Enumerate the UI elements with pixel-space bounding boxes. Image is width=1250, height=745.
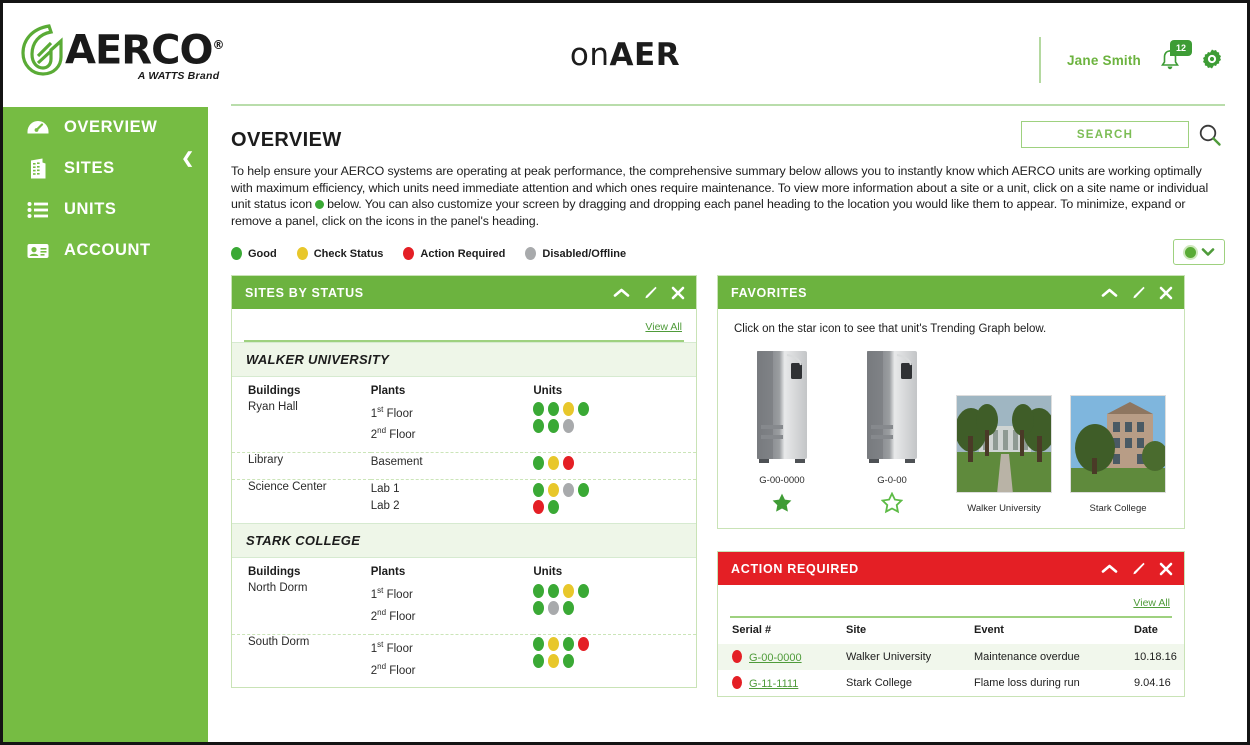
edit-button[interactable] (1131, 561, 1146, 576)
app-header: AERCO® A WATTS Brand onAER Jane Smith 12 (3, 3, 1247, 107)
legend-label: Disabled/Offline (542, 248, 626, 260)
panel-header[interactable]: SITES BY STATUS (232, 276, 696, 309)
chevron-up-icon (1101, 563, 1118, 575)
unit-status-dot-icon[interactable] (563, 402, 574, 416)
table-row: South Dorm1st Floor2nd Floor (232, 634, 696, 687)
sidebar: ❮ OVERVIEW SITES (3, 107, 208, 745)
unit-status-dot-icon[interactable] (563, 419, 574, 433)
event-cell: Flame loss during run (974, 670, 1134, 696)
sites-list: WALKER UNIVERSITYBuildingsPlantsUnitsRya… (232, 342, 696, 688)
favorite-item[interactable]: Walker University (956, 371, 1052, 514)
building-name[interactable]: Ryan Hall (232, 400, 371, 453)
view-all-row: View All (718, 585, 1184, 616)
favorite-thumbnail (846, 343, 938, 465)
units-cell (533, 581, 696, 634)
sidebar-item-label: SITES (64, 159, 115, 178)
header-actions: Jane Smith 12 (1039, 37, 1225, 83)
status-dot-action-icon (732, 676, 742, 689)
column-header: Event (974, 618, 1134, 644)
table-body: G-00-0000Walker UniversityMaintenance ov… (718, 644, 1184, 696)
table-row: Science CenterLab 1Lab 2 (232, 480, 696, 524)
pencil-icon (1131, 285, 1146, 300)
user-name[interactable]: Jane Smith (1067, 53, 1141, 68)
favorite-caption: Stark College (1070, 503, 1166, 514)
building-icon (25, 156, 51, 182)
unit-status-dot-icon[interactable] (548, 500, 559, 514)
favorites-grid: G-00-0000 G-0-00 Walker University Stark… (718, 341, 1184, 528)
close-icon (671, 286, 685, 300)
settings-button[interactable] (1199, 47, 1225, 73)
status-filter-selected-dot-icon (1183, 245, 1198, 260)
close-icon (1159, 286, 1173, 300)
search-input[interactable] (1021, 121, 1189, 148)
unit-status-dot-icon[interactable] (548, 637, 559, 651)
pencil-icon (1131, 561, 1146, 576)
unit-status-dot-icon[interactable] (548, 456, 559, 470)
panel-body: Click on the star icon to see that unit'… (718, 309, 1184, 528)
unit-status-dot-icon[interactable] (533, 654, 544, 668)
plant-name: 1st Floor (371, 401, 534, 423)
chevron-down-icon (1201, 246, 1215, 258)
inline-status-dot-icon (315, 200, 324, 209)
favorites-instruction: Click on the star icon to see that unit'… (718, 309, 1184, 341)
id-card-icon (25, 238, 51, 264)
plant-name: Lab 1 (371, 481, 534, 498)
unit-status-group (533, 582, 696, 599)
favorite-item[interactable]: G-0-00 (846, 343, 938, 514)
plants-cell: 1st Floor2nd Floor (371, 581, 534, 634)
unit-status-dot-icon[interactable] (533, 637, 544, 651)
boiler-unit-image (861, 347, 923, 465)
legend-label: Action Required (420, 248, 505, 260)
column-header: Plants (371, 377, 534, 400)
status-dot-action-icon (732, 650, 742, 663)
panel-body: View All WALKER UNIVERSITYBuildingsPlant… (232, 309, 696, 687)
plant-name: 2nd Floor (371, 422, 534, 444)
overview-description-part2: below. You can also customize your scree… (231, 197, 1185, 228)
favorite-thumbnail (1070, 371, 1166, 493)
plants-cell: 1st Floor2nd Floor (371, 634, 534, 687)
plant-name: 1st Floor (371, 582, 534, 604)
panel-column-left: SITES BY STATUS (231, 275, 697, 697)
panel-tools (1101, 285, 1173, 300)
unit-status-dot-icon[interactable] (548, 402, 559, 416)
panel-favorites: FAVORITES (717, 275, 1185, 529)
site-name-header[interactable]: WALKER UNIVERSITY (232, 342, 696, 377)
plant-name: 2nd Floor (371, 604, 534, 626)
site-photo (1070, 395, 1166, 493)
date-cell: 10.18.16 (1134, 644, 1184, 670)
notifications-button[interactable]: 12 (1157, 47, 1183, 73)
close-button[interactable] (1159, 562, 1173, 576)
plants-cell: 1st Floor2nd Floor (371, 400, 534, 453)
favorite-star-toggle[interactable] (736, 492, 828, 514)
legend-item-check-status: Check Status (297, 247, 384, 260)
site-table: BuildingsPlantsUnitsRyan Hall1st Floor2n… (232, 377, 696, 524)
sidebar-item-sites[interactable]: SITES (3, 148, 208, 189)
building-name[interactable]: North Dorm (232, 581, 371, 634)
favorite-item[interactable]: Stark College (1070, 371, 1166, 514)
legend-label: Good (248, 248, 277, 260)
unit-status-dot-icon[interactable] (578, 402, 589, 416)
column-header: Date (1134, 618, 1184, 644)
panel-header[interactable]: ACTION REQUIRED (718, 552, 1184, 585)
view-all-link[interactable]: View All (645, 321, 682, 333)
column-header: Units (533, 377, 696, 400)
minimize-button[interactable] (613, 287, 630, 299)
panel-grid: SITES BY STATUS (231, 275, 1225, 697)
favorite-caption: Walker University (956, 503, 1052, 514)
unit-status-group (533, 599, 696, 616)
minimize-button[interactable] (1101, 287, 1118, 299)
gear-icon (1199, 47, 1225, 73)
serial-link[interactable]: G-11-1111 (749, 678, 798, 690)
sidebar-item-overview[interactable]: OVERVIEW (3, 107, 208, 148)
panel-tools (1101, 561, 1173, 576)
plant-name: 2nd Floor (371, 658, 534, 680)
plant-name: Basement (371, 454, 534, 471)
pencil-icon (643, 285, 658, 300)
unit-status-group (533, 418, 696, 435)
column-header: Plants (371, 558, 534, 581)
favorite-item[interactable]: G-00-0000 (736, 343, 828, 514)
table-row[interactable]: G-00-0000Walker UniversityMaintenance ov… (718, 644, 1184, 670)
sidebar-item-units[interactable]: UNITS (3, 189, 208, 230)
sidebar-item-label: ACCOUNT (64, 241, 151, 260)
unit-status-dot-icon[interactable] (548, 483, 559, 497)
table-row[interactable]: G-11-1111Stark CollegeFlame loss during … (718, 670, 1184, 696)
view-all-row: View All (232, 309, 696, 340)
unit-status-dot-icon[interactable] (578, 637, 589, 651)
panel-body: View All Serial #SiteEventDate G-00-0000… (718, 585, 1184, 696)
unit-status-dot-icon[interactable] (533, 584, 544, 598)
units-cell (533, 400, 696, 453)
legend-item-disabled-offline: Disabled/Offline (525, 247, 626, 260)
header-rule (231, 104, 1225, 106)
unit-status-group (533, 636, 696, 653)
legend-label: Check Status (314, 248, 384, 260)
action-required-table: Serial #SiteEventDate G-00-0000Walker Un… (718, 618, 1184, 696)
table-header-row: Serial #SiteEventDate (718, 618, 1184, 644)
unit-status-dot-icon[interactable] (563, 601, 574, 615)
sidebar-item-label: OVERVIEW (64, 118, 157, 137)
status-legend: Good Check Status Action Required Disabl… (231, 247, 1225, 260)
unit-status-dot-icon[interactable] (533, 601, 544, 615)
unit-status-dot-icon[interactable] (563, 456, 574, 470)
status-filter-dropdown[interactable] (1173, 239, 1225, 265)
sidebar-item-label: UNITS (64, 200, 117, 219)
plants-cell: Basement (371, 453, 534, 480)
main-content: OVERVIEW To help ensure your AERCO syste… (208, 107, 1247, 745)
search-icon[interactable] (1197, 122, 1223, 148)
sidebar-item-account[interactable]: ACCOUNT (3, 230, 208, 271)
site-name-header[interactable]: STARK COLLEGE (232, 523, 696, 558)
site-cell: Stark College (846, 670, 974, 696)
unit-status-dot-icon[interactable] (578, 584, 589, 598)
chevron-up-icon (613, 287, 630, 299)
building-name[interactable]: Library (232, 453, 371, 480)
serial-cell: G-00-0000 (718, 644, 846, 670)
units-cell (533, 453, 696, 480)
view-all-link[interactable]: View All (1133, 597, 1170, 609)
boiler-unit-image (751, 347, 813, 465)
unit-status-dot-icon[interactable] (563, 483, 574, 497)
notification-badge: 12 (1170, 40, 1192, 56)
header-divider (1039, 37, 1041, 83)
panel-title: FAVORITES (731, 286, 1101, 300)
panel-action-required: ACTION REQUIRED (717, 551, 1185, 697)
edit-button[interactable] (643, 285, 658, 300)
status-dot-good-icon (231, 247, 242, 260)
site-table: BuildingsPlantsUnitsNorth Dorm1st Floor2… (232, 558, 696, 687)
unit-status-dot-icon[interactable] (533, 402, 544, 416)
favorite-thumbnail (736, 343, 828, 465)
column-header: Site (846, 618, 974, 644)
panel-title: SITES BY STATUS (245, 286, 613, 300)
column-header: Buildings (232, 377, 371, 400)
serial-cell: G-11-1111 (718, 670, 846, 696)
unit-status-dot-icon[interactable] (563, 584, 574, 598)
campus-photo (957, 396, 1052, 493)
unit-status-dot-icon[interactable] (533, 419, 544, 433)
unit-status-dot-icon[interactable] (533, 456, 544, 470)
favorite-star-toggle[interactable] (846, 492, 938, 514)
favorite-thumbnail (956, 371, 1052, 493)
site-photo (956, 395, 1052, 493)
site-cell: Walker University (846, 644, 974, 670)
units-cell (533, 634, 696, 687)
units-cell (533, 480, 696, 524)
favorite-caption: G-00-0000 (736, 475, 828, 486)
unit-status-dot-icon[interactable] (548, 601, 559, 615)
column-header: Units (533, 558, 696, 581)
onaer-dashboard: AERCO® A WATTS Brand onAER Jane Smith 12 (0, 0, 1250, 745)
close-icon (1159, 562, 1173, 576)
status-dot-disabled-icon (525, 247, 536, 260)
unit-status-group (533, 498, 696, 515)
unit-status-dot-icon[interactable] (578, 483, 589, 497)
column-header: Buildings (232, 558, 371, 581)
table-header-row: BuildingsPlantsUnits (232, 377, 696, 400)
search-area (1021, 121, 1223, 148)
status-dot-check-icon (297, 247, 308, 260)
dashboard-gauge-icon (25, 115, 51, 141)
unit-status-group (533, 401, 696, 418)
legend-item-good: Good (231, 247, 277, 260)
panel-header[interactable]: FAVORITES (718, 276, 1184, 309)
table-header-row: BuildingsPlantsUnits (232, 558, 696, 581)
close-button[interactable] (671, 286, 685, 300)
campus-photo (1071, 396, 1166, 493)
plant-name: Lab 2 (371, 498, 534, 515)
serial-link[interactable]: G-00-0000 (749, 652, 802, 664)
edit-button[interactable] (1131, 285, 1146, 300)
plants-cell: Lab 1Lab 2 (371, 480, 534, 524)
panel-column-right: FAVORITES (717, 275, 1185, 697)
unit-status-dot-icon[interactable] (563, 654, 574, 668)
legend-item-action-required: Action Required (403, 247, 505, 260)
unit-status-dot-icon[interactable] (548, 419, 559, 433)
table-row: Ryan Hall1st Floor2nd Floor (232, 400, 696, 453)
unit-status-dot-icon[interactable] (548, 654, 559, 668)
minimize-button[interactable] (1101, 563, 1118, 575)
star-outline-icon[interactable] (881, 492, 903, 514)
unit-status-dot-icon[interactable] (533, 483, 544, 497)
favorite-caption: G-0-00 (846, 475, 938, 486)
unit-status-dot-icon[interactable] (563, 637, 574, 651)
unit-status-group (533, 454, 696, 471)
panel-sites-by-status: SITES BY STATUS (231, 275, 697, 688)
unit-status-group (533, 481, 696, 498)
panel-title: ACTION REQUIRED (731, 562, 1101, 576)
unit-status-group (533, 653, 696, 670)
event-cell: Maintenance overdue (974, 644, 1134, 670)
column-header: Serial # (718, 618, 846, 644)
chevron-up-icon (1101, 287, 1118, 299)
unit-status-dot-icon[interactable] (548, 584, 559, 598)
building-name[interactable]: South Dorm (232, 634, 371, 687)
panel-tools (613, 285, 685, 300)
date-cell: 9.04.16 (1134, 670, 1184, 696)
plant-name: 1st Floor (371, 636, 534, 658)
building-name[interactable]: Science Center (232, 480, 371, 524)
list-icon (25, 197, 51, 223)
star-filled-icon[interactable] (771, 492, 793, 514)
close-button[interactable] (1159, 286, 1173, 300)
table-row: North Dorm1st Floor2nd Floor (232, 581, 696, 634)
overview-description: To help ensure your AERCO systems are op… (231, 163, 1223, 229)
status-dot-action-icon (403, 247, 414, 260)
table-row: LibraryBasement (232, 453, 696, 480)
unit-status-dot-icon[interactable] (533, 500, 544, 514)
